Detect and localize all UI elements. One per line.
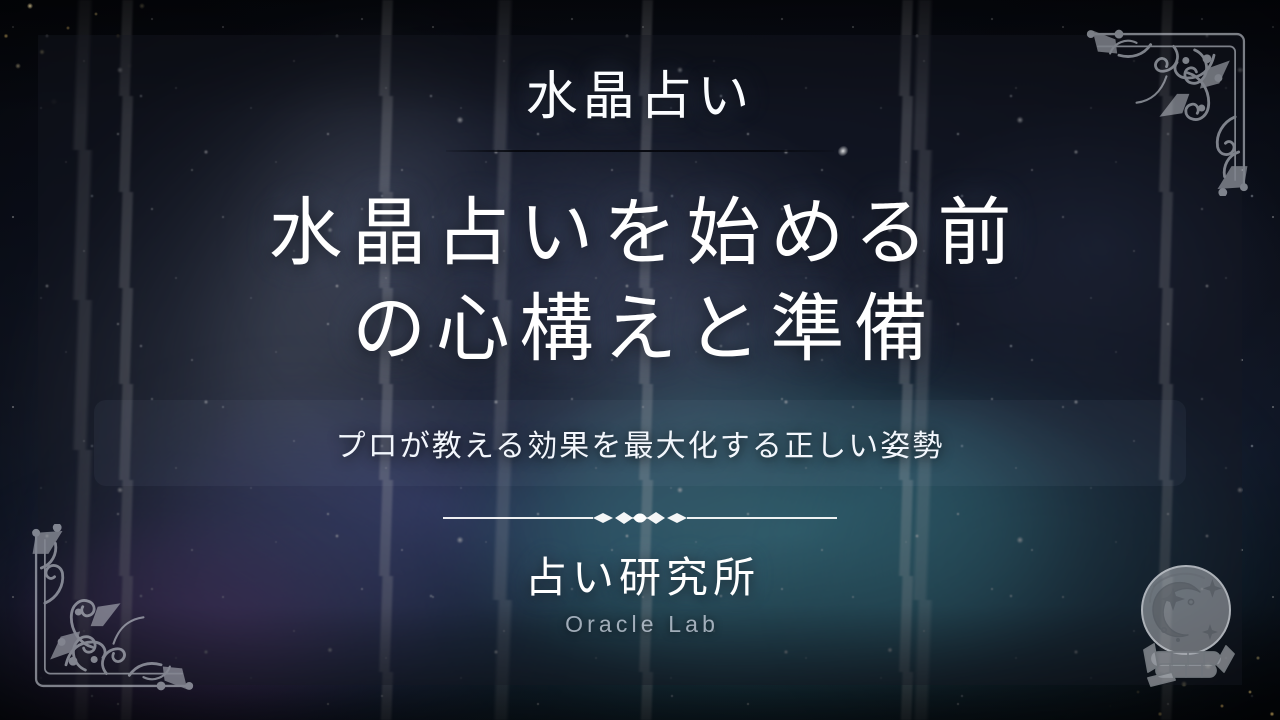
content-stack: 水晶占い 水晶占いを始める前 の心構えと準備 プロが教える効果を最大化する正しい… xyxy=(0,0,1280,720)
header-divider xyxy=(446,150,834,152)
page-subtitle: プロが教える効果を最大化する正しい姿勢 xyxy=(336,421,945,465)
page-title-line-1: 水晶占いを始める前 xyxy=(259,186,1021,282)
subtitle-panel: プロが教える効果を最大化する正しい姿勢 xyxy=(94,400,1186,486)
brand-name-ja: 占い研究所 xyxy=(520,544,760,605)
crystal-ball-icon xyxy=(1126,558,1246,690)
page-title: 水晶占いを始める前 の心構えと準備 xyxy=(259,186,1021,378)
category-label: 水晶占い xyxy=(526,72,755,124)
page-title-line-2: の心構えと準備 xyxy=(259,282,1021,378)
brand-name-en: Oracle Lab xyxy=(561,611,719,638)
thumbnail-canvas: 水晶占い 水晶占いを始める前 の心構えと準備 プロが教える効果を最大化する正しい… xyxy=(0,0,1280,720)
ornament-divider-icon xyxy=(443,508,837,528)
